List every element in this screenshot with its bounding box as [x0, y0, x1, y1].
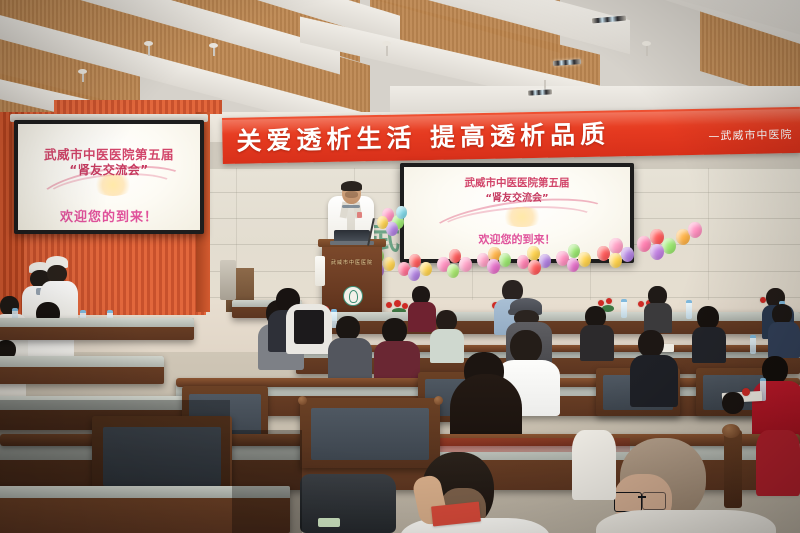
chair-back-post [724, 430, 742, 508]
av-equipment-box [220, 260, 236, 300]
speaker-hair [341, 181, 362, 191]
balloon [459, 257, 472, 272]
left-screen-surface: 武威市中医医院第五届 “肾友交流会” 欢迎您的到来！ [18, 124, 200, 230]
balloon [396, 206, 407, 219]
desk-surface [0, 356, 164, 367]
conference-hall-photo: 武 威 市 中 医 医 院 关爱透析生活 提高透析品质 —武威市中医院 武威市中… [0, 0, 800, 533]
balloon [409, 254, 421, 268]
balloon [377, 216, 388, 229]
water-bottle [750, 335, 756, 354]
balloon [408, 267, 420, 281]
podium-nameplate: 武威市中医医院 [328, 258, 376, 268]
eyeglasses [614, 492, 642, 512]
water-bottle [621, 299, 627, 318]
balloon [447, 264, 459, 278]
balloon [383, 257, 395, 271]
desk-surface [300, 312, 800, 321]
event-banner: 关爱透析生活 提高透析品质 —武威市中医院 [222, 107, 800, 164]
balloon [527, 246, 540, 261]
balloon [499, 253, 511, 267]
balloon [662, 238, 676, 254]
balloon [420, 262, 432, 276]
podium-cloth [315, 256, 325, 286]
left-screen-subtitle: “肾友交流会” [18, 161, 200, 178]
banner-main-text: 关爱透析生活 提高透析品质 [236, 115, 610, 158]
chair-knob [722, 424, 740, 438]
water-bottle [686, 300, 692, 319]
left-projection-screen: 武威市中医医院第五届 “肾友交流会” 欢迎您的到来！ [14, 120, 204, 234]
desk-row-nurses [0, 318, 194, 340]
eyeglasses [642, 492, 666, 510]
desk-row-nurses [0, 356, 164, 384]
balloon [650, 244, 664, 260]
center-screen-welcome: 欢迎您的到来！ [404, 231, 630, 247]
balloon [528, 260, 541, 275]
balloon [688, 222, 702, 238]
shadow-region [232, 430, 302, 533]
center-screen-subtitle: “肾友交流会” [404, 189, 630, 204]
left-screen-welcome: 欢迎您的到来！ [18, 206, 200, 225]
flower [742, 388, 750, 396]
center-screen-surface: 武威市中医医院第五届 “肾友交流会” 欢迎您的到来！ [404, 167, 630, 259]
balloon [487, 259, 500, 274]
balloon [637, 236, 651, 252]
balloon [567, 258, 579, 272]
bag-tag [318, 518, 340, 527]
balloon [578, 252, 591, 267]
chair [300, 398, 440, 468]
chair-cushion [311, 408, 429, 460]
hospital-logo [343, 286, 363, 306]
backpack [300, 474, 396, 533]
banner-attribution: —武威市中医院 [708, 126, 792, 144]
desk-surface [0, 318, 194, 327]
center-screen-title: 武威市中医医院第五届 [404, 175, 630, 190]
chair-knob [298, 396, 307, 405]
balloon [609, 253, 622, 268]
speaker-face [345, 191, 358, 198]
balloon [621, 247, 634, 262]
chair-knob [434, 396, 443, 405]
